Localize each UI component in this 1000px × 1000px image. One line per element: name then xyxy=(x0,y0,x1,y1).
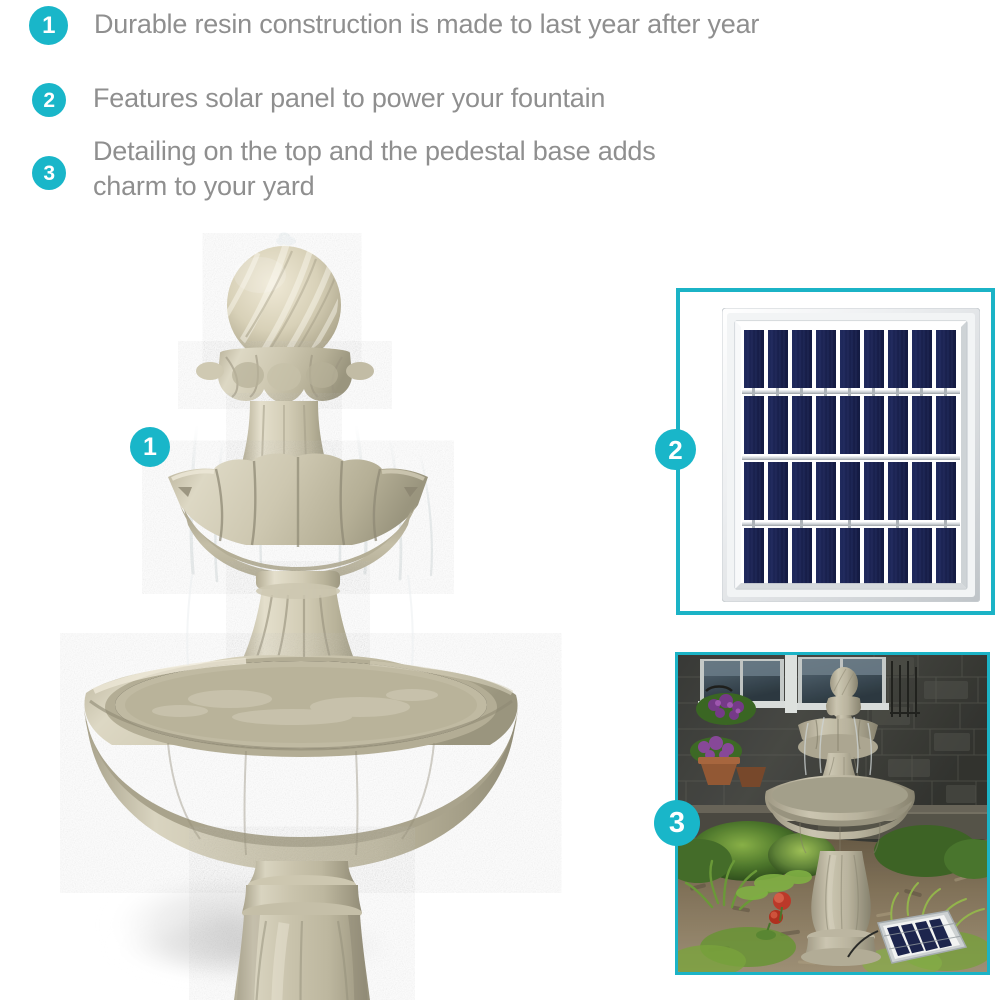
feature-badge-2: 2 xyxy=(32,83,66,117)
feature-badge-3: 3 xyxy=(32,156,66,190)
callout-badge-3: 3 xyxy=(654,800,700,846)
upper-tier-bowl xyxy=(168,454,428,581)
feature-text-3: Detailing on the top and the pedestal ba… xyxy=(93,134,656,204)
solar-panel-frame xyxy=(676,288,995,615)
middle-column xyxy=(238,571,358,669)
feature-text-2: Features solar panel to power your fount… xyxy=(93,81,605,116)
feature-item-2: 2 Features solar panel to power your fou… xyxy=(0,81,1000,117)
finial-ball xyxy=(216,245,348,364)
finial-collar xyxy=(196,347,374,403)
callout-badge-1: 1 xyxy=(130,427,170,467)
feature-list: 1 Durable resin construction is made to … xyxy=(0,0,1000,225)
lifestyle-photo xyxy=(675,652,990,975)
water-jet-top xyxy=(276,234,296,246)
feature-badge-1: 1 xyxy=(29,6,68,45)
solar-cell-grid xyxy=(740,326,962,584)
hero-fountain-image xyxy=(60,225,620,1000)
feature-item-3: 3 Detailing on the top and the pedestal … xyxy=(0,134,1000,204)
lower-basin xyxy=(84,655,518,871)
solar-panel-image xyxy=(722,308,980,602)
callout-badge-2: 2 xyxy=(655,429,696,470)
feature-item-1: 1 Durable resin construction is made to … xyxy=(0,4,1000,45)
feature-text-1: Durable resin construction is made to la… xyxy=(94,7,759,42)
